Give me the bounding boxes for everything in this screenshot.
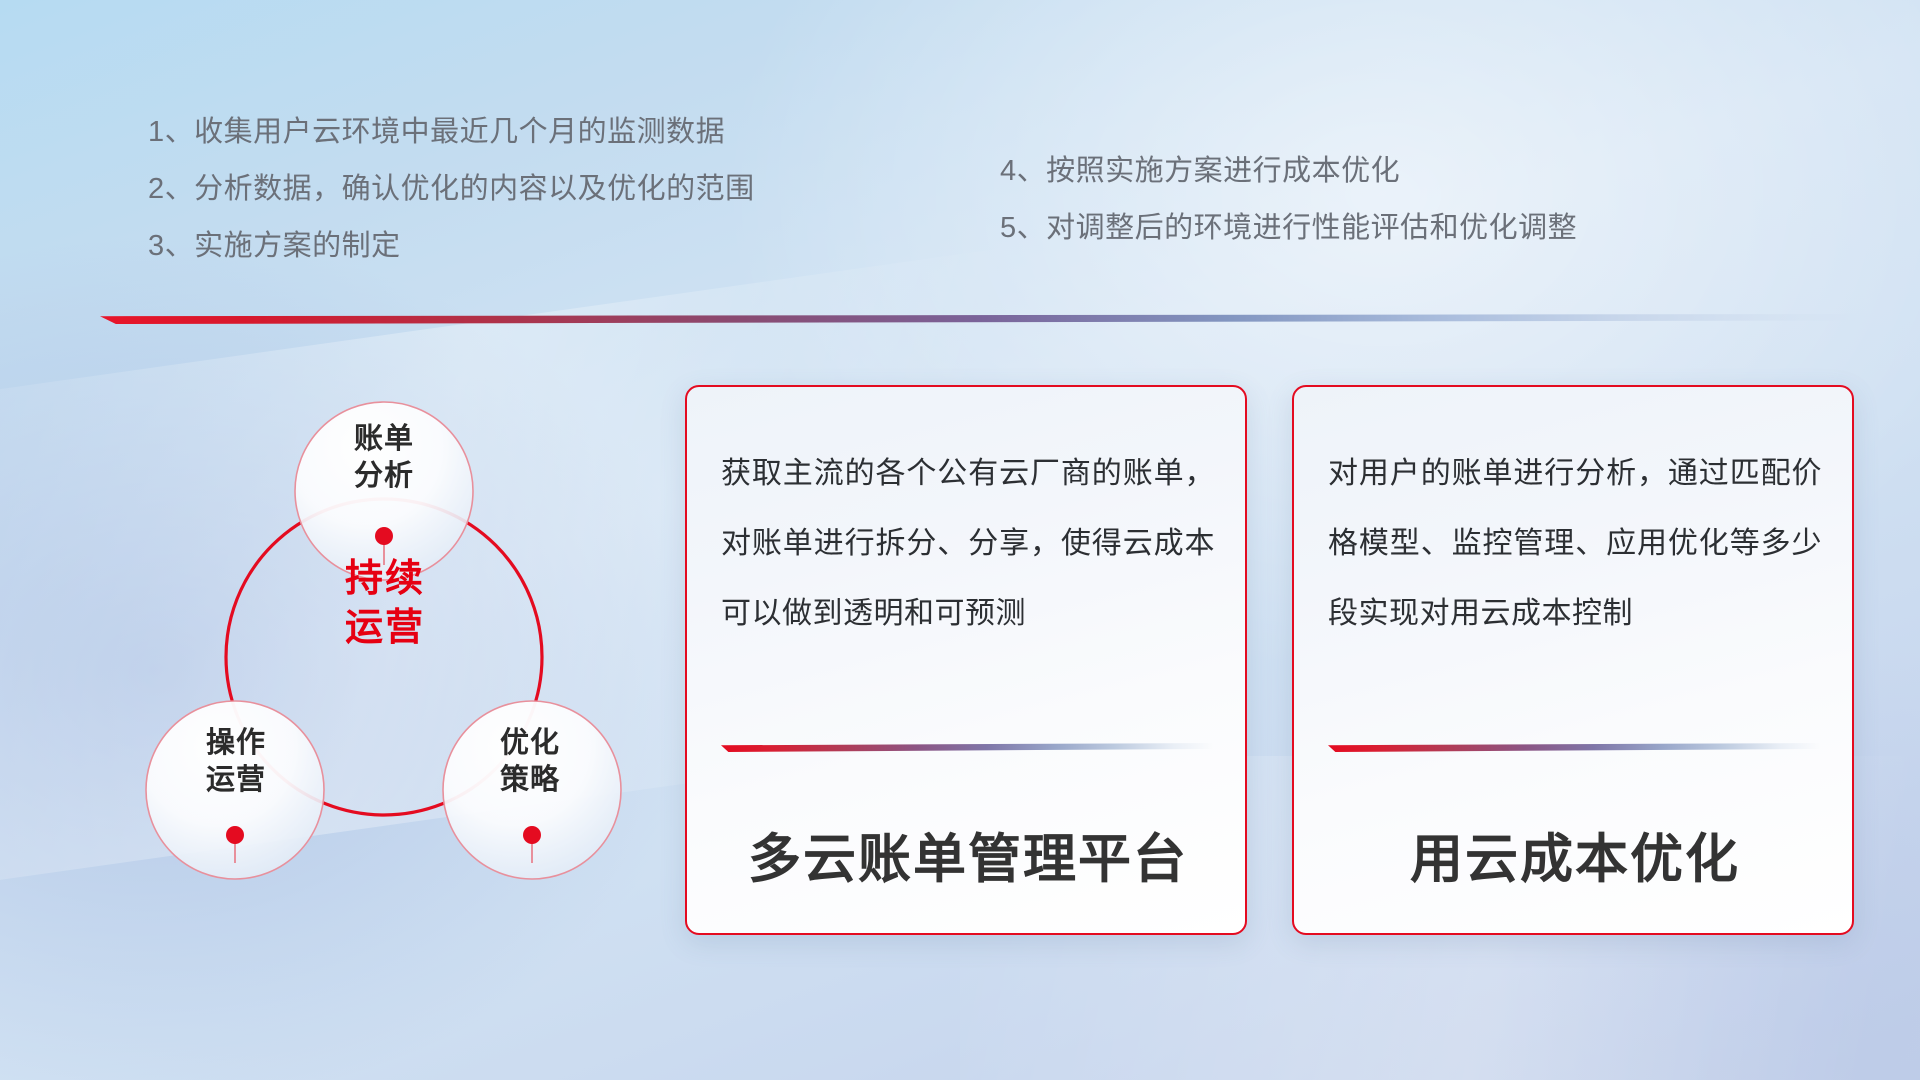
dot-left: [226, 826, 244, 844]
step-item: 3、实施方案的制定: [148, 232, 755, 261]
continuous-operation-diagram: 账单 分析 操作 运营 优化 策略 持续 运营: [95, 355, 655, 945]
step-item: 4、按照实施方案进行成本优化: [1000, 157, 1577, 186]
venn-label-operation-ops: 操作 运营: [151, 725, 321, 799]
card-divider-rule: [1328, 743, 1820, 752]
steps-column-right: 4、按照实施方案进行成本优化 5、对调整后的环境进行性能评估和优化调整: [1000, 157, 1577, 271]
section-divider-rule: [100, 314, 1860, 324]
venn-center-label: 持续 运营: [255, 555, 515, 654]
dot-top: [375, 527, 393, 545]
dot-right: [523, 826, 541, 844]
card-body-text: 获取主流的各个公有云厂商的账单，对账单进行拆分、分享，使得云成本可以做到透明和可…: [721, 439, 1215, 649]
venn-label-bill-analysis: 账单 分析: [299, 421, 469, 495]
card-body-text: 对用户的账单进行分析，通过匹配价格模型、监控管理、应用优化等多少段实现对用云成本…: [1328, 439, 1822, 649]
step-item: 1、收集用户云环境中最近几个月的监测数据: [148, 118, 755, 147]
slide-canvas: 1、收集用户云环境中最近几个月的监测数据 2、分析数据，确认优化的内容以及优化的…: [0, 0, 1920, 1080]
steps-area: 1、收集用户云环境中最近几个月的监测数据 2、分析数据，确认优化的内容以及优化的…: [0, 0, 1920, 300]
venn-label-optimization-policy: 优化 策略: [445, 725, 615, 799]
card-cloud-cost-optimization[interactable]: 对用户的账单进行分析，通过匹配价格模型、监控管理、应用优化等多少段实现对用云成本…: [1292, 385, 1854, 935]
card-title: 用云成本优化: [1328, 817, 1822, 893]
step-item: 2、分析数据，确认优化的内容以及优化的范围: [148, 175, 755, 204]
card-title: 多云账单管理平台: [721, 817, 1215, 893]
card-divider-rule: [721, 743, 1213, 752]
step-item: 5、对调整后的环境进行性能评估和优化调整: [1000, 214, 1577, 243]
steps-column-left: 1、收集用户云环境中最近几个月的监测数据 2、分析数据，确认优化的内容以及优化的…: [148, 118, 755, 289]
card-multi-cloud-billing-platform[interactable]: 获取主流的各个公有云厂商的账单，对账单进行拆分、分享，使得云成本可以做到透明和可…: [685, 385, 1247, 935]
